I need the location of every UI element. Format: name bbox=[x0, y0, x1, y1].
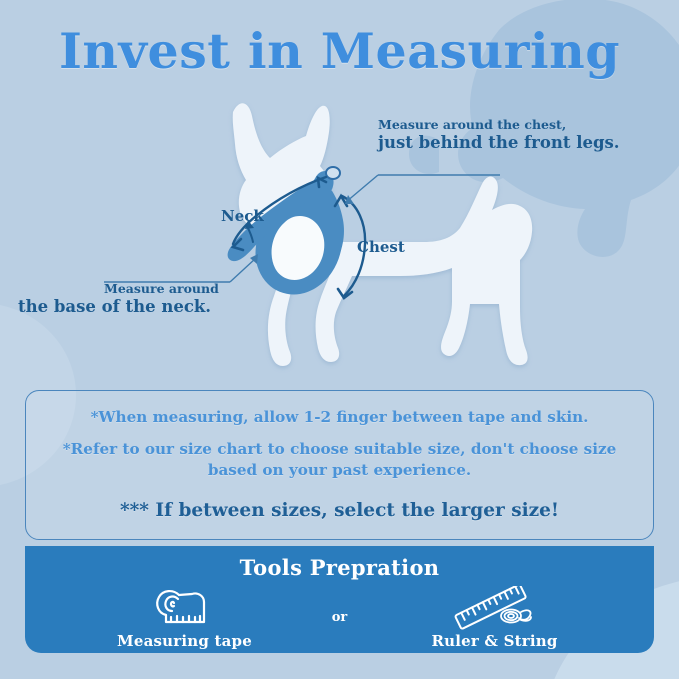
neck-callout-line1: Measure around bbox=[104, 282, 219, 297]
tip-line-3: *** If between sizes, select the larger … bbox=[60, 498, 620, 524]
measuring-tape-icon bbox=[154, 586, 216, 630]
tip-line-1: *When measuring, allow 1-2 finger betwee… bbox=[60, 407, 620, 429]
chest-callout: Measure around the chest, just behind th… bbox=[378, 118, 620, 153]
page-title: Invest in Measuring bbox=[0, 22, 679, 80]
neck-point-label: Neck bbox=[221, 207, 264, 225]
ruler-and-string-icon bbox=[449, 586, 541, 630]
tools-row: Measuring tape or bbox=[25, 586, 654, 648]
measuring-tape-label: Measuring tape bbox=[117, 632, 252, 650]
tools-preparation-box: Tools Prepration bbox=[25, 546, 654, 653]
tools-separator: or bbox=[300, 586, 380, 625]
tip-line-2: *Refer to our size chart to choose suita… bbox=[60, 439, 620, 482]
infographic-canvas: Invest in Measuring bbox=[0, 0, 679, 679]
tool-ruler-string: Ruler & String bbox=[380, 586, 610, 650]
chest-point-label: Chest bbox=[357, 238, 405, 256]
chest-callout-line2: just behind the front legs. bbox=[378, 133, 620, 153]
neck-callout-line2: the base of the neck. bbox=[18, 297, 219, 317]
tool-measuring-tape: Measuring tape bbox=[70, 586, 300, 650]
measuring-tips-box: *When measuring, allow 1-2 finger betwee… bbox=[25, 390, 654, 540]
measuring-diagram: Measure around the chest, just behind th… bbox=[0, 92, 679, 392]
neck-callout: Measure around the base of the neck. bbox=[18, 282, 219, 317]
ruler-string-label: Ruler & String bbox=[431, 632, 557, 650]
chest-callout-line1: Measure around the chest, bbox=[378, 118, 620, 133]
tools-title: Tools Prepration bbox=[25, 546, 654, 580]
